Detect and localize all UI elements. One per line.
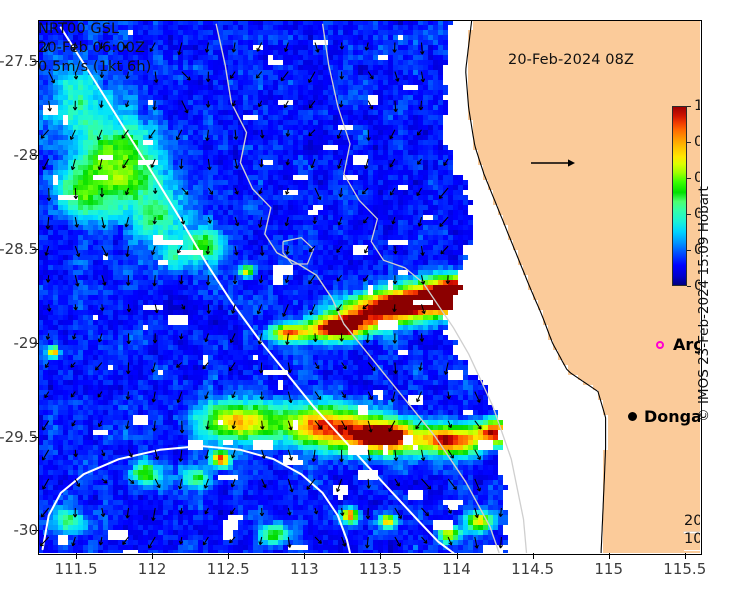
current-vector-arrow	[99, 421, 102, 427]
current-vector-arrow	[309, 101, 315, 108]
current-vector-arrow	[48, 101, 52, 111]
current-vector-arrow	[367, 479, 371, 489]
current-legend-block: NRT00 GSL 20-Feb 06:00Z 0.5m/s (1kt 6h)	[38, 20, 700, 77]
current-vector-arrow	[261, 421, 265, 430]
current-vector-arrow	[208, 217, 211, 223]
current-vector-arrow	[102, 275, 106, 285]
current-vector-arrow	[366, 508, 370, 519]
current-vector-arrow	[448, 421, 452, 428]
current-vector-arrow	[475, 537, 479, 548]
argo-marker-icon	[656, 341, 664, 349]
current-vector-arrow	[180, 508, 184, 514]
current-vector-arrow	[418, 159, 422, 164]
current-vector-arrow	[46, 363, 49, 368]
colorbar-tick-mark	[687, 214, 691, 215]
current-vector-arrow	[74, 188, 78, 199]
current-vector-arrow	[102, 479, 107, 483]
current-vector-arrow	[177, 392, 182, 403]
current-vector-arrow	[231, 479, 235, 487]
current-vector-arrow	[365, 246, 369, 253]
x-tick-label: 112.5	[207, 560, 250, 578]
current-vector-arrow	[395, 537, 400, 546]
current-vector-arrow	[46, 275, 50, 282]
current-vector-arrow	[338, 159, 342, 169]
colorbar-tick-label: 1	[694, 98, 700, 114]
depth-contour-200m	[216, 24, 499, 553]
current-vector-arrow	[235, 159, 239, 169]
current-vector-arrow	[417, 188, 422, 196]
x-tick-label: 113.5	[359, 560, 402, 578]
current-vector-arrow	[259, 217, 263, 227]
current-vector-arrow	[422, 508, 429, 516]
current-vector-arrow	[155, 304, 159, 313]
current-vector-arrow	[73, 101, 77, 110]
current-vector-arrow	[126, 101, 129, 107]
current-vector-arrow	[43, 421, 49, 430]
current-vector-arrow	[314, 333, 318, 341]
current-vector-arrow	[288, 508, 292, 515]
current-vector-arrow	[446, 275, 450, 284]
current-vector-arrow	[366, 333, 370, 342]
current-vector-arrow	[337, 275, 341, 281]
current-vector-arrow	[315, 363, 319, 369]
current-vector-arrow	[100, 101, 104, 108]
current-vector-arrow	[342, 392, 346, 398]
x-tick-label: 115.5	[663, 560, 706, 578]
current-vector-arrow	[448, 479, 456, 490]
current-vector-arrow	[127, 275, 131, 285]
current-vector-arrow	[206, 130, 210, 141]
current-vector-arrow	[288, 479, 293, 492]
colorbar-tick-mark	[687, 106, 691, 107]
current-vector-arrow	[368, 392, 372, 400]
current-vector-arrow	[41, 130, 48, 138]
current-vector-arrow	[74, 450, 78, 457]
current-vector-arrow	[368, 101, 373, 109]
current-vector-arrow	[45, 246, 49, 255]
current-vector-arrow	[283, 304, 289, 316]
current-vector-arrow	[126, 508, 130, 518]
current-vector-arrow	[179, 537, 183, 544]
current-vector-arrow	[47, 188, 51, 201]
current-vector-arrow	[260, 130, 264, 138]
current-vector-arrow	[205, 450, 209, 459]
coastline-path	[466, 20, 606, 553]
current-vector-arrow	[206, 101, 210, 108]
current-vector-arrow	[206, 246, 210, 254]
current-vector-arrow	[337, 304, 342, 311]
credit-label: © IMOS 23-Feb-2024 15:09 Hobart	[696, 186, 712, 422]
current-vector-arrow	[364, 217, 369, 223]
current-vector-arrow	[439, 188, 448, 199]
current-vector-arrow	[232, 421, 236, 429]
current-vector-arrow	[309, 130, 315, 136]
colorbar-tick-label: 0.8	[694, 134, 700, 150]
current-vector-arrow	[43, 159, 49, 170]
current-vector-arrow	[288, 450, 292, 461]
current-vector-arrow	[440, 217, 448, 226]
current-vector-arrow	[288, 537, 292, 548]
current-vector-arrow	[363, 304, 368, 309]
x-tick-mark	[685, 553, 686, 559]
current-vector-arrow	[288, 363, 292, 373]
current-vector-arrow	[262, 450, 266, 459]
current-vector-arrow	[422, 304, 426, 313]
current-vector-arrow	[340, 333, 344, 341]
x-tick-mark	[457, 553, 458, 559]
current-vector-arrow	[100, 188, 104, 197]
depth-key-1000m-label: 1000m	[684, 531, 700, 547]
current-vector-arrow	[152, 508, 156, 521]
current-vector-arrow	[232, 392, 235, 398]
current-vector-arrow	[102, 246, 108, 256]
current-vector-arrow	[419, 363, 423, 371]
current-vector-arrow	[285, 275, 288, 283]
y-tick-label: -27.5	[0, 52, 38, 70]
current-vector-arrow	[46, 333, 50, 339]
current-vector-arrow	[475, 392, 480, 403]
y-tick-label: -30	[14, 521, 39, 539]
current-vector-arrow	[205, 392, 209, 399]
x-tick-label: 111.5	[55, 560, 98, 578]
current-vector-arrow	[230, 333, 235, 342]
current-vector-arrow	[417, 392, 422, 402]
current-vector-arrow	[127, 363, 131, 374]
current-vector-arrow	[417, 130, 421, 135]
current-vector-arrow	[126, 246, 130, 257]
current-vector-arrow	[74, 304, 78, 310]
current-vector-arrow	[129, 479, 134, 484]
current-vector-arrow	[288, 392, 292, 403]
current-vector-arrow	[448, 537, 452, 545]
current-vector-arrow	[342, 537, 346, 546]
current-vector-arrow	[259, 363, 263, 374]
current-product-label: NRT00 GSL	[38, 20, 700, 39]
depth-contour-200m-outer	[323, 24, 527, 553]
current-vector-arrow	[338, 217, 342, 225]
current-vector-arrow	[313, 217, 317, 224]
current-vector-arrow	[149, 537, 156, 548]
colorbar-tick-mark	[687, 250, 691, 251]
current-vector-arrow	[235, 217, 239, 226]
current-vector-arrow	[206, 275, 210, 285]
current-vector-arrow	[422, 479, 431, 489]
y-tick-label: -28.5	[0, 240, 38, 258]
current-vector-arrow	[71, 392, 75, 398]
current-vector-arrow	[475, 479, 481, 491]
current-vector-arrow	[127, 304, 131, 312]
x-tick-mark	[76, 553, 77, 559]
current-vector-arrow	[182, 101, 188, 113]
current-vector-arrow	[151, 159, 155, 168]
current-vector-arrow	[362, 188, 368, 194]
current-vector-arrow	[127, 333, 131, 344]
current-vector-arrow	[232, 450, 236, 458]
reference-arrow-icon	[530, 154, 576, 166]
current-vector-arrow	[234, 130, 238, 140]
colorbar-tick-mark	[687, 178, 691, 179]
current-vector-arrow	[394, 363, 398, 374]
current-vector-arrow	[177, 363, 182, 368]
current-vector-arrow	[341, 508, 345, 516]
map-overlay	[38, 20, 700, 553]
current-vector-arrow	[315, 537, 321, 543]
current-vector-arrow	[444, 159, 448, 166]
current-vector-arrow	[394, 450, 398, 461]
current-vector-arrow	[155, 479, 160, 488]
current-vector-arrow	[444, 363, 448, 375]
current-vector-arrow	[123, 537, 129, 545]
current-vector-arrow	[315, 188, 321, 200]
x-tick-label: 114.5	[511, 560, 554, 578]
current-vector-arrow	[390, 130, 395, 139]
current-vector-arrow	[262, 479, 266, 488]
current-vector-arrow	[98, 333, 102, 342]
current-vector-arrow	[315, 421, 322, 429]
depth-key-200m-label: 200m	[684, 513, 700, 529]
current-vector-arrow	[288, 421, 292, 430]
current-vector-arrow	[71, 159, 75, 170]
current-vector-arrow	[203, 537, 208, 545]
x-tick-mark	[533, 553, 534, 559]
y-tick-label: -28	[14, 146, 39, 164]
current-vector-arrow	[153, 188, 157, 194]
current-vector-arrow	[230, 363, 236, 371]
current-vector-arrow	[285, 217, 289, 226]
current-vector-arrow	[153, 101, 157, 110]
argo-legend-entry: Argo	[656, 335, 700, 354]
current-vector-arrow	[390, 188, 395, 195]
current-vector-arrow	[365, 159, 369, 169]
current-vector-arrow	[368, 421, 372, 432]
current-vector-arrow	[286, 333, 290, 344]
current-vector-arrow	[475, 450, 481, 460]
current-vector-arrow	[126, 392, 130, 400]
current-vector-arrow	[45, 392, 49, 398]
current-vector-arrow	[259, 537, 263, 545]
current-vector-arrow	[259, 275, 263, 283]
current-vector-arrow	[232, 101, 235, 107]
current-vector-arrow	[100, 304, 104, 310]
current-vector-arrow	[284, 101, 288, 108]
current-vector-arrow	[416, 421, 422, 429]
x-tick-mark	[380, 553, 381, 559]
current-vector-arrow	[153, 333, 157, 343]
current-vector-arrow	[441, 246, 448, 254]
current-vector-arrow	[97, 130, 102, 140]
current-vector-arrow	[123, 159, 129, 168]
current-vector-arrow	[126, 188, 129, 195]
y-tick-label: -29.5	[0, 428, 38, 446]
current-vector-arrow	[231, 508, 236, 514]
current-vector-arrow	[447, 392, 451, 400]
current-vector-arrow	[152, 246, 156, 255]
current-vector-arrow	[339, 188, 343, 197]
current-vector-arrow	[395, 479, 399, 486]
depth-contour-key: 200m 1000m	[684, 512, 700, 548]
current-vector-arrow	[475, 508, 479, 518]
current-vector-arrow	[368, 450, 372, 461]
current-vector-arrow	[342, 421, 347, 430]
current-vector-arrow	[315, 392, 321, 400]
current-vector-arrow	[71, 363, 75, 368]
current-vector-arrow	[96, 363, 102, 371]
current-vector-arrow	[125, 217, 129, 227]
current-vector-arrow	[179, 479, 183, 489]
current-vector-arrow	[177, 130, 182, 140]
current-vector-arrow	[364, 275, 369, 281]
current-vector-arrow	[235, 246, 239, 255]
current-vector-arrow	[180, 275, 184, 284]
current-vector-arrow	[311, 159, 315, 168]
current-vector-arrow	[260, 159, 264, 167]
current-vector-arrow	[393, 304, 397, 312]
current-vector-arrow	[337, 479, 342, 492]
current-vector-arrow	[499, 508, 503, 517]
current-vector-arrow	[259, 101, 262, 107]
current-vector-arrow	[260, 392, 264, 400]
current-vector-arrow	[75, 246, 79, 257]
current-vector-arrow	[46, 217, 50, 229]
current-vector-arrow	[182, 188, 188, 195]
colorbar-tick-label: 0.6	[694, 170, 700, 186]
current-vector-arrow	[180, 421, 184, 433]
current-vector-arrow	[101, 508, 105, 517]
current-vector-arrow	[73, 508, 77, 517]
current-vector-arrow	[75, 275, 79, 286]
current-vector-arrow	[312, 450, 316, 462]
x-tick-mark	[304, 553, 305, 559]
current-vector-arrow	[47, 304, 51, 311]
colorbar-gradient	[672, 106, 687, 286]
depth-contour-1000m	[61, 28, 454, 554]
depth-rule-1000m	[684, 550, 700, 552]
current-vector-arrow	[180, 333, 184, 339]
current-vector-arrow	[206, 421, 210, 430]
current-vector-arrow	[342, 363, 347, 369]
current-vector-arrow	[182, 304, 185, 309]
current-vector-arrow	[98, 392, 102, 398]
current-vector-arrow	[499, 537, 503, 548]
current-vector-arrow	[421, 450, 425, 461]
dongara-marker-icon	[628, 412, 637, 421]
current-scale-label: 0.5m/s (1kt 6h)	[38, 58, 700, 77]
current-vector-arrow	[392, 217, 395, 224]
current-vector-arrow	[75, 217, 79, 227]
current-vector-arrow	[391, 392, 395, 402]
current-vector-arrow	[153, 421, 157, 431]
map-plot-area[interactable]: 20-Feb-2024 08Z NRT00 GSL 20-Feb 06:00Z …	[38, 20, 700, 553]
current-vector-arrow	[203, 363, 209, 369]
current-vector-arrow	[368, 363, 375, 371]
dongara-place-label: Dongara	[644, 407, 700, 426]
current-vector-arrow	[208, 188, 212, 194]
current-vector-arrow	[72, 421, 75, 426]
current-vector-arrow	[178, 246, 182, 253]
current-vector-arrow	[421, 275, 425, 284]
current-vector-arrow	[390, 159, 395, 167]
current-vector-arrow	[475, 421, 481, 429]
dongara-place-marker: Dongara	[628, 407, 700, 426]
current-vector-arrow	[260, 246, 264, 256]
current-vector-arrow	[149, 130, 155, 139]
current-vector-arrow	[394, 246, 398, 254]
current-vector-arrow	[393, 275, 397, 284]
current-vector-arrow	[309, 275, 315, 284]
current-vector-field	[40, 43, 502, 549]
current-vector-arrow	[70, 130, 75, 140]
current-vector-arrow	[418, 217, 422, 226]
current-vector-arrow	[72, 537, 76, 546]
current-vector-arrow	[102, 450, 105, 456]
x-tick-mark	[152, 553, 153, 559]
current-vector-arrow	[207, 304, 211, 313]
current-vector-arrow	[422, 537, 427, 543]
x-tick-label: 115	[594, 560, 623, 578]
current-vector-arrow	[310, 304, 315, 315]
x-tick-mark	[228, 553, 229, 559]
current-vector-arrow	[73, 333, 76, 339]
current-vector-arrow	[43, 450, 49, 460]
current-vector-arrow	[366, 537, 370, 548]
current-vector-arrow	[337, 246, 342, 252]
current-vector-arrow	[152, 363, 156, 373]
current-vector-arrow	[389, 421, 395, 432]
current-vector-arrow	[41, 508, 48, 517]
current-vector-arrow	[179, 450, 183, 462]
depth-key-1000m-row: 1000m	[684, 530, 700, 548]
current-vector-arrow	[393, 333, 397, 343]
current-vector-arrow	[205, 333, 209, 341]
current-vector-arrow	[204, 479, 208, 488]
current-vector-arrow	[259, 188, 262, 194]
depth-contour-1000m-south	[43, 446, 350, 553]
current-vector-arrow	[102, 217, 106, 228]
figure-canvas: 20-Feb-2024 08Z NRT00 GSL 20-Feb 06:00Z …	[0, 0, 740, 592]
current-vector-arrow	[43, 479, 49, 489]
current-vector-arrow	[230, 537, 236, 543]
current-vector-arrow	[233, 275, 237, 284]
current-vector-arrow	[448, 508, 451, 513]
current-vector-arrow	[286, 159, 290, 165]
current-vector-arrow	[394, 101, 398, 112]
x-tick-label: 113	[290, 560, 319, 578]
current-vector-arrow	[286, 188, 289, 194]
current-vector-arrow	[367, 130, 371, 141]
current-vector-arrow	[257, 304, 261, 314]
current-vector-arrow	[260, 508, 264, 516]
current-vector-arrow	[314, 508, 317, 514]
colorbar-tick-mark	[687, 142, 691, 143]
current-vector-arrow	[126, 421, 130, 429]
current-vector-arrow	[152, 392, 156, 403]
current-vector-arrow	[153, 217, 157, 224]
current-vector-arrow	[98, 159, 102, 170]
current-vector-arrow	[205, 508, 208, 514]
current-vector-arrow	[339, 101, 343, 108]
current-vector-arrow	[99, 537, 103, 545]
current-vector-arrow	[337, 130, 341, 139]
current-vector-arrow	[340, 450, 344, 462]
x-tick-label: 114	[442, 560, 471, 578]
current-vector-arrow	[153, 275, 157, 286]
current-vector-arrow	[420, 333, 424, 341]
x-tick-label: 112	[138, 560, 167, 578]
x-tick-mark	[609, 553, 610, 559]
current-vector-arrow	[180, 159, 184, 169]
current-vector-arrow	[208, 159, 212, 170]
y-tick-label: -29	[14, 334, 39, 352]
